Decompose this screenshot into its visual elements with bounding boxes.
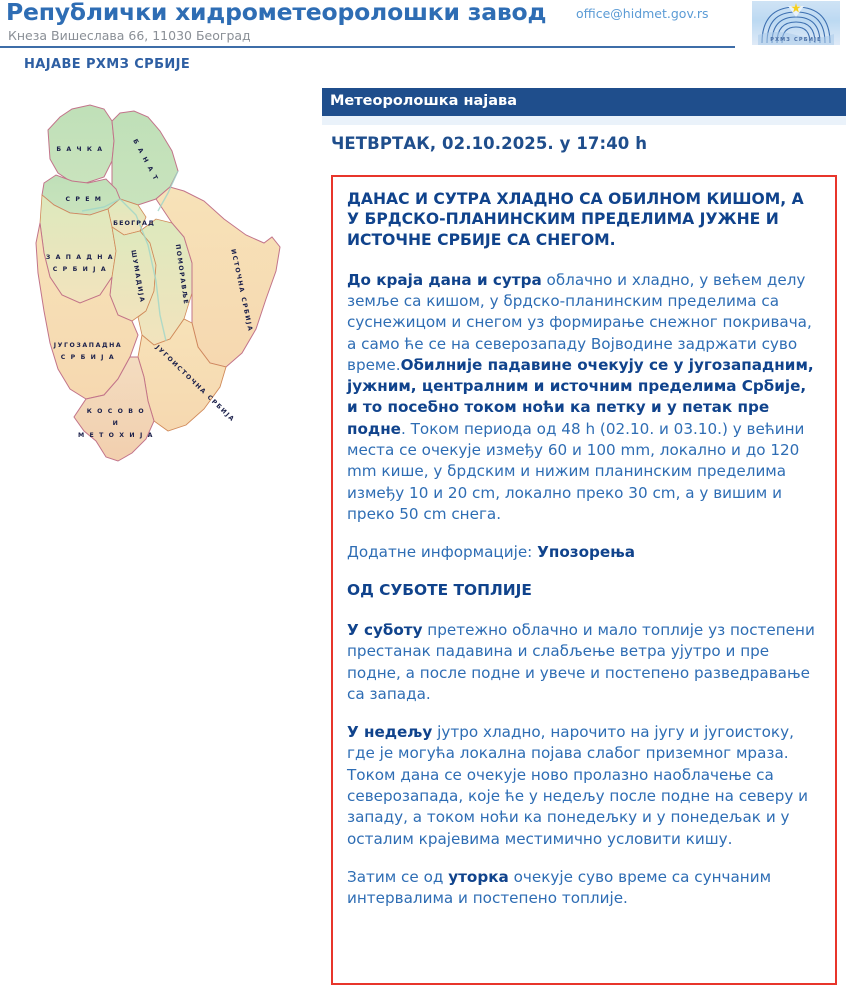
forecast-panel-title: Метеоролошка најава	[322, 88, 846, 116]
map-label-zapadna-1: З А П А Д Н А	[46, 254, 114, 261]
sunday-lead: У недељу	[347, 723, 432, 741]
logo-caption: РХМЗ СРБИЈЕ	[752, 37, 840, 43]
forecast-column: Метеоролошка најава ЧЕТВРТАК, 02.10.2025…	[322, 88, 846, 985]
map-label-zapadna-2: С Р Б И Ј А	[53, 266, 107, 273]
organization-title: Републички хидрометеоролошки завод	[6, 0, 546, 26]
forecast-subheading: ОД СУБОТЕ ТОПЛИЈЕ	[347, 580, 821, 602]
rhmz-logo[interactable]: РХМЗ СРБИЈЕ	[752, 1, 840, 45]
site-header: Републички хидрометеоролошки завод Кнеза…	[0, 0, 850, 52]
map-svg: Б А Ч К А Б А Н А Т С Р Е М БЕОГРАД З А …	[8, 95, 313, 475]
map-label-beograd: БЕОГРАД	[113, 219, 155, 227]
map-label-kosovo-1: К О С О В О	[87, 408, 145, 415]
saturday-lead: У суботу	[347, 621, 422, 639]
forecast-headline: ДАНАС И СУТРА ХЛАДНО СА ОБИЛНОМ КИШОМ, А…	[347, 189, 821, 250]
header-divider	[0, 46, 735, 48]
forecast-additional-info: Додатне информације: Упозорења	[347, 542, 821, 563]
tuesday-text-a: Затим се од	[347, 868, 448, 886]
tuesday-emphasis: уторка	[448, 868, 509, 886]
sunday-text: јутро хладно, нарочито на југу и југоист…	[347, 723, 808, 847]
contact-email-link[interactable]: office@hidmet.gov.rs	[576, 6, 709, 21]
warnings-link[interactable]: Упозорења	[537, 543, 635, 561]
organization-address: Кнеза Вишеслава 66, 11030 Београд	[8, 28, 251, 43]
forecast-paragraph-1: До краја дана и сутра облачно и хладно, …	[347, 270, 821, 525]
map-label-kosovo-2: И	[113, 420, 120, 427]
additional-info-label: Додатне информације:	[347, 543, 537, 561]
forecast-paragraph-saturday: У суботу претежно облачно и мало топлије…	[347, 620, 821, 705]
forecast-p1-lead: До краја дана и сутра	[347, 271, 542, 289]
forecast-date-line: ЧЕТВРТАК, 02.10.2025. у 17:40 h	[322, 125, 846, 153]
forecast-paragraph-tuesday: Затим се од уторка очекује суво време са…	[347, 867, 821, 910]
map-label-srem: С Р Е М	[65, 196, 102, 203]
map-label-jugozapadna-1: ЈУГОЗАПАДНА	[53, 342, 123, 349]
serbia-regions-map[interactable]: Б А Ч К А Б А Н А Т С Р Е М БЕОГРАД З А …	[8, 95, 313, 475]
forecast-panel-title-underline	[322, 116, 846, 125]
forecast-alert-box: ДАНАС И СУТРА ХЛАДНО СА ОБИЛНОМ КИШОМ, А…	[331, 175, 837, 985]
forecast-p1-text-b: . Током периода од 48 h (02.10. и 03.10.…	[347, 420, 804, 523]
map-label-backa: Б А Ч К А	[56, 146, 103, 153]
map-label-kosovo-3: М Е Т О Х И Ј А	[78, 432, 154, 439]
map-region-backa[interactable]	[48, 105, 114, 183]
page-section-label: НАЈАВЕ РХМЗ СРБИЈЕ	[24, 57, 190, 72]
forecast-paragraph-sunday: У недељу јутро хладно, нарочито на југу …	[347, 722, 821, 850]
map-label-jugozapadna-2: С Р Б И Ј А	[61, 354, 115, 361]
